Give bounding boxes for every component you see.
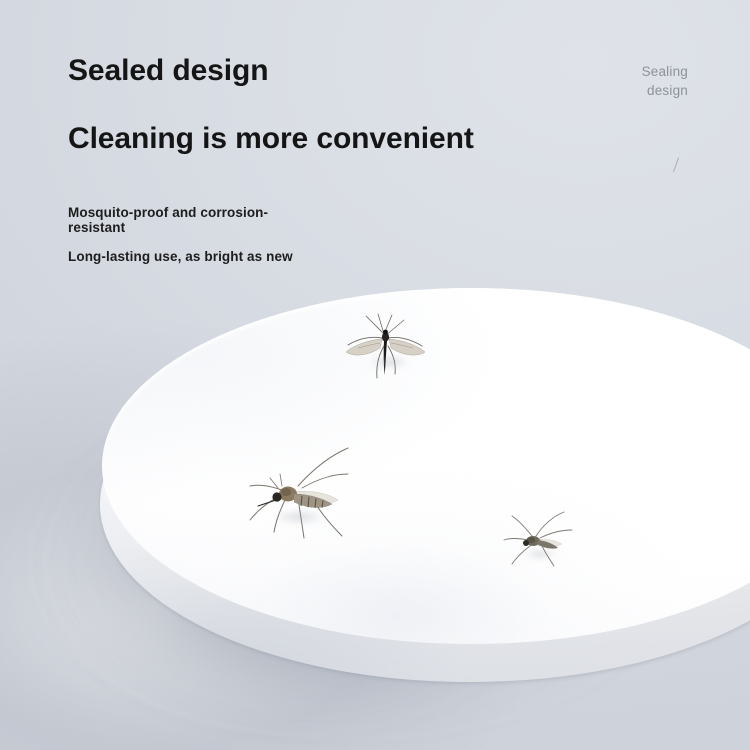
page-subtitle: Cleaning is more convenient <box>68 122 474 156</box>
slash-divider-icon: / <box>673 152 679 178</box>
mosquito-shadow <box>360 352 418 372</box>
product-marketing-image: Sealed design Cleaning is more convenien… <box>0 0 750 750</box>
mosquito-shadow <box>262 506 336 528</box>
mosquito-shadow <box>516 546 564 562</box>
mosquito-small-dark-icon <box>500 508 576 570</box>
side-caption: Sealing design <box>578 62 688 100</box>
side-caption-line-2: design <box>578 81 688 100</box>
mosquito-side-view-icon <box>236 444 358 548</box>
feature-text-mosquito-proof: Mosquito-proof and corrosion-resistant <box>68 205 318 235</box>
side-caption-line-1: Sealing <box>578 62 688 81</box>
feature-text-long-lasting: Long-lasting use, as bright as new <box>68 249 293 264</box>
mosquito-wings-spread-icon <box>336 312 432 384</box>
page-title: Sealed design <box>68 54 268 88</box>
